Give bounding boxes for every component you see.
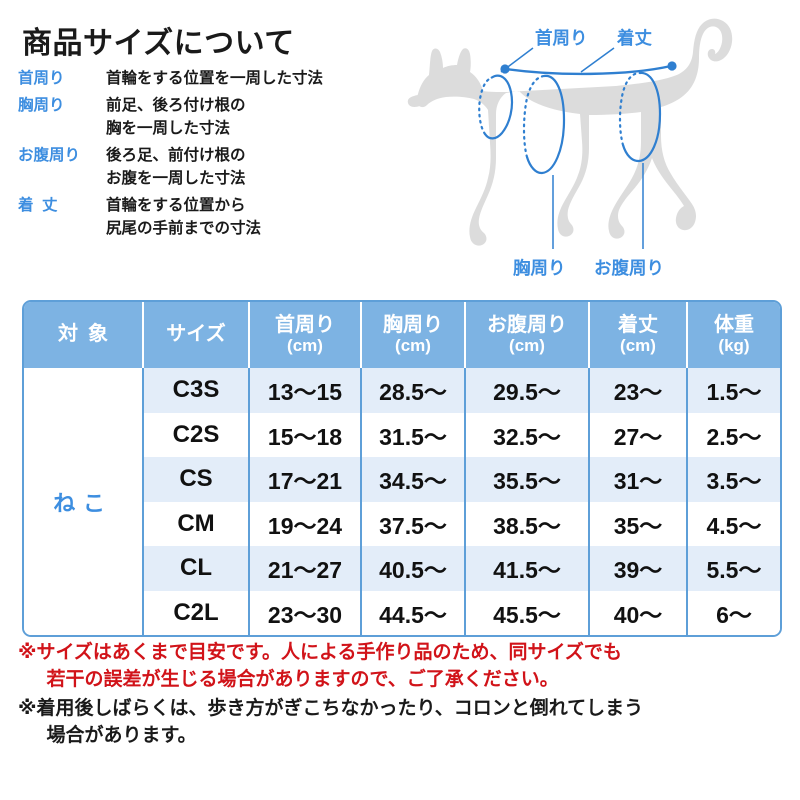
length-measure-line bbox=[500, 61, 676, 74]
cell-belly: 41.5～ bbox=[466, 546, 590, 591]
cell-size: C2S bbox=[144, 413, 250, 458]
definition-desc-belly: 後ろ足、前付け根の お腹を一周した寸法 bbox=[106, 145, 418, 191]
cell-size: CL bbox=[144, 546, 250, 591]
diagram-label-chest: 胸周り bbox=[513, 258, 566, 278]
cell-weight: 5.5～ bbox=[688, 546, 780, 591]
cell-length: 23～ bbox=[590, 368, 688, 413]
cell-size: C2L bbox=[144, 591, 250, 636]
cell-length: 39～ bbox=[590, 546, 688, 591]
col-header-chest-label: 胸周り bbox=[383, 314, 443, 336]
definition-desc-line: 後ろ足、前付け根の bbox=[106, 145, 418, 168]
cell-weight: 3.5～ bbox=[688, 457, 780, 502]
col-header-neck-unit: (cm) bbox=[250, 337, 360, 355]
cell-neck: 23～30 bbox=[250, 591, 362, 636]
cell-size: CS bbox=[144, 457, 250, 502]
col-header-neck-label: 首周り bbox=[275, 314, 335, 336]
definition-term-chest: 胸周り bbox=[18, 95, 106, 118]
cell-weight: 2.5～ bbox=[688, 413, 780, 458]
definition-desc-line: お腹を一周した寸法 bbox=[106, 168, 418, 191]
cell-belly: 32.5～ bbox=[466, 413, 590, 458]
col-header-length-label: 着丈 bbox=[618, 314, 658, 336]
col-header-size-label: サイズ bbox=[166, 323, 225, 345]
table-header-row: 対象 サイズ 首周り (cm) 胸周り (cm) お腹周り (cm) bbox=[24, 302, 780, 368]
diagram-label-belly: お腹周り bbox=[594, 258, 664, 278]
cell-chest: 28.5～ bbox=[362, 368, 466, 413]
table-row: ねこ C3S 13～15 28.5～ 29.5～ 23～ 1.5～ bbox=[24, 368, 780, 413]
cell-belly: 38.5～ bbox=[466, 502, 590, 547]
cell-chest: 44.5～ bbox=[362, 591, 466, 636]
col-header-length-unit: (cm) bbox=[590, 337, 686, 355]
leader-length bbox=[581, 48, 614, 72]
footnote-line: 場合があります。 bbox=[36, 723, 788, 750]
cat-silhouette-icon bbox=[408, 19, 732, 246]
cell-weight: 6～ bbox=[688, 591, 780, 636]
cell-neck: 15～18 bbox=[250, 413, 362, 458]
cat-measurement-diagram: 首周り 着丈 胸周り お腹周り bbox=[396, 0, 800, 292]
definition-row-chest: 胸周り 前足、後ろ付け根の 胸を一周した寸法 bbox=[18, 95, 418, 141]
cell-length: 40～ bbox=[590, 591, 688, 636]
diagram-label-length: 着丈 bbox=[616, 28, 652, 48]
col-header-weight-label: 体重 bbox=[714, 314, 754, 336]
cell-chest: 37.5～ bbox=[362, 502, 466, 547]
definition-row-neck: 首周り 首輪をする位置を一周した寸法 bbox=[18, 68, 418, 91]
cell-length: 27～ bbox=[590, 413, 688, 458]
definition-list: 首周り 首輪をする位置を一周した寸法 胸周り 前足、後ろ付け根の 胸を一周した寸… bbox=[18, 68, 418, 245]
definition-row-belly: お腹周り 後ろ足、前付け根の お腹を一周した寸法 bbox=[18, 145, 418, 191]
cell-size: C3S bbox=[144, 368, 250, 413]
definition-desc-length: 首輪をする位置から 尻尾の手前までの寸法 bbox=[106, 195, 418, 241]
definition-term-belly: お腹周り bbox=[18, 145, 106, 168]
footnote-line: 着用後しばらくは、歩き方がぎこちなかったり、コロンと倒れてしまう bbox=[36, 696, 788, 723]
cell-neck: 17～21 bbox=[250, 457, 362, 502]
footnote-body: 着用後しばらくは、歩き方がぎこちなかったり、コロンと倒れてしまう 場合があります… bbox=[36, 696, 788, 750]
col-header-belly-label: お腹周り bbox=[487, 314, 567, 336]
col-header-length: 着丈 (cm) bbox=[590, 302, 688, 368]
cell-chest: 40.5～ bbox=[362, 546, 466, 591]
definition-desc-neck: 首輪をする位置を一周した寸法 bbox=[106, 68, 418, 91]
leader-lines bbox=[501, 48, 643, 249]
col-header-chest: 胸周り (cm) bbox=[362, 302, 466, 368]
definition-row-length: 着丈 首輪をする位置から 尻尾の手前までの寸法 bbox=[18, 195, 418, 241]
footnote-wearing: ※ 着用後しばらくは、歩き方がぎこちなかったり、コロンと倒れてしまう 場合があり… bbox=[18, 696, 788, 750]
definition-term-neck: 首周り bbox=[18, 68, 106, 91]
footnote-body: サイズはあくまで目安です。人による手作り品のため、同サイズでも 若干の誤差が生じ… bbox=[36, 640, 788, 694]
cell-belly: 29.5～ bbox=[466, 368, 590, 413]
size-table-container: 対象 サイズ 首周り (cm) 胸周り (cm) お腹周り (cm) bbox=[22, 300, 778, 634]
footnote-size-approx: ※ サイズはあくまで目安です。人による手作り品のため、同サイズでも 若干の誤差が… bbox=[18, 640, 788, 694]
footnotes: ※ サイズはあくまで目安です。人による手作り品のため、同サイズでも 若干の誤差が… bbox=[18, 640, 788, 752]
col-header-belly: お腹周り (cm) bbox=[466, 302, 590, 368]
definition-desc-line: 首輪をする位置から bbox=[106, 195, 418, 218]
footnote-mark: ※ bbox=[18, 640, 36, 667]
definition-desc-line: 前足、後ろ付け根の bbox=[106, 95, 418, 118]
intro-section: 商品サイズについて 首周り 首輪をする位置を一周した寸法 胸周り 前足、後ろ付け… bbox=[0, 0, 800, 292]
cell-weight: 1.5～ bbox=[688, 368, 780, 413]
cell-length: 31～ bbox=[590, 457, 688, 502]
definition-desc-line: 尻尾の手前までの寸法 bbox=[106, 218, 418, 241]
cell-neck: 19～24 bbox=[250, 502, 362, 547]
definition-desc-chest: 前足、後ろ付け根の 胸を一周した寸法 bbox=[106, 95, 418, 141]
col-header-belly-unit: (cm) bbox=[466, 337, 588, 355]
footnote-mark: ※ bbox=[18, 696, 36, 723]
cell-chest: 34.5～ bbox=[362, 457, 466, 502]
cell-chest: 31.5～ bbox=[362, 413, 466, 458]
leader-neck bbox=[501, 48, 533, 72]
col-header-target: 対象 bbox=[24, 302, 144, 368]
cell-belly: 35.5～ bbox=[466, 457, 590, 502]
col-header-weight-unit: (kg) bbox=[688, 337, 780, 355]
footnote-line: サイズはあくまで目安です。人による手作り品のため、同サイズでも bbox=[36, 640, 788, 667]
page-title: 商品サイズについて bbox=[22, 18, 295, 62]
col-header-size: サイズ bbox=[144, 302, 250, 368]
target-cell: ねこ bbox=[24, 368, 144, 635]
definition-desc-line: 首輪をする位置を一周した寸法 bbox=[106, 68, 418, 91]
col-header-target-label: 対象 bbox=[48, 323, 118, 345]
cell-length: 35～ bbox=[590, 502, 688, 547]
size-table: 対象 サイズ 首周り (cm) 胸周り (cm) お腹周り (cm) bbox=[22, 300, 782, 637]
diagram-label-neck: 首周り bbox=[535, 28, 588, 48]
col-header-weight: 体重 (kg) bbox=[688, 302, 780, 368]
cell-weight: 4.5～ bbox=[688, 502, 780, 547]
col-header-neck: 首周り (cm) bbox=[250, 302, 362, 368]
definition-desc-line: 胸を一周した寸法 bbox=[106, 118, 418, 141]
cell-size: CM bbox=[144, 502, 250, 547]
cell-neck: 13～15 bbox=[250, 368, 362, 413]
col-header-chest-unit: (cm) bbox=[362, 337, 464, 355]
cell-belly: 45.5～ bbox=[466, 591, 590, 636]
definition-term-length: 着丈 bbox=[18, 195, 106, 218]
footnote-line: 若干の誤差が生じる場合がありますので、ご了承ください。 bbox=[36, 667, 788, 694]
cell-neck: 21～27 bbox=[250, 546, 362, 591]
